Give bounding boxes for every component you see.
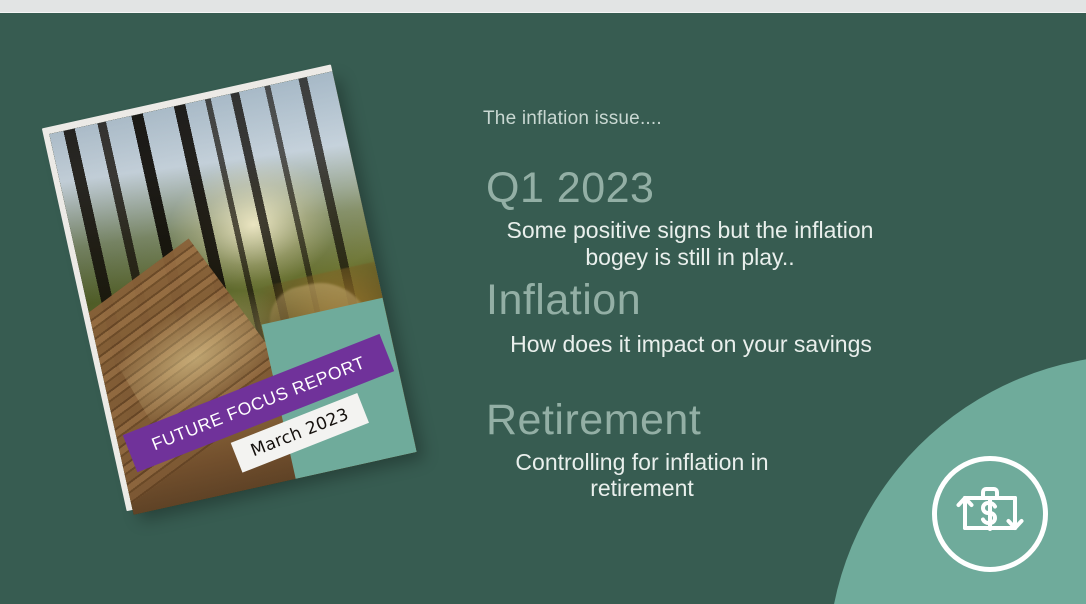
block-title-retirement: Retirement [486, 396, 950, 445]
block-body-retirement: Controlling for inflation in retirement [482, 449, 802, 501]
content-block-q1: Q1 2023 Some positive signs but the infl… [470, 164, 950, 270]
block-title-q1: Q1 2023 [486, 164, 950, 213]
report-front-cover: FUTURE FOCUS REPORT March 2023 [49, 71, 417, 515]
content-column: The inflation issue.... Q1 2023 Some pos… [470, 108, 950, 503]
content-block-retirement: Retirement Controlling for inflation in … [470, 396, 950, 502]
content-block-inflation: Inflation How does it impact on your sav… [470, 276, 950, 358]
slide-background: The inflation issue.... Q1 2023 Some pos… [0, 13, 1086, 604]
briefcase-dollar-arrows-glyph [953, 484, 1027, 544]
eyebrow-text: The inflation issue.... [483, 108, 950, 130]
block-title-inflation: Inflation [486, 276, 950, 325]
slide-canvas: The inflation issue.... Q1 2023 Some pos… [0, 0, 1086, 604]
window-top-strip [0, 0, 1086, 12]
report-cover-mockup: FUTURE FOCUS REPORT March 2023 [49, 71, 417, 515]
block-body-q1: Some positive signs but the inflation bo… [490, 217, 890, 269]
block-body-inflation: How does it impact on your savings [490, 331, 892, 357]
